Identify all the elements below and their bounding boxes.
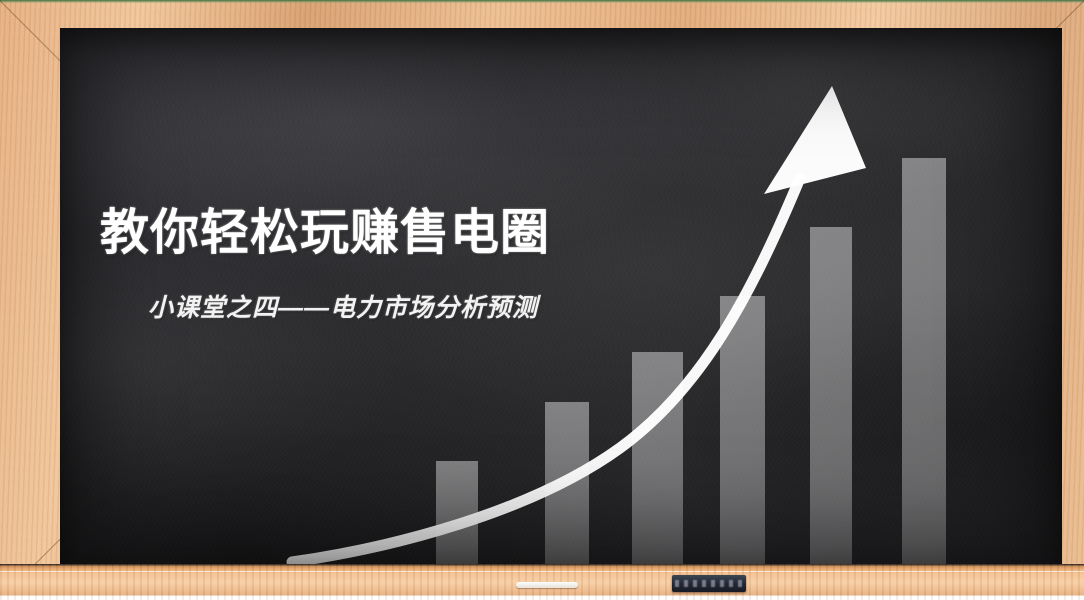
page-title: 教你轻松玩赚售电圈 (100, 193, 550, 264)
blackboard-eraser-icon (672, 575, 746, 592)
page-subtitle: 小课堂之四——电力市场分析预测 (148, 288, 538, 324)
chalk-stick-icon (516, 582, 578, 588)
slide-canvas: 教你轻松玩赚售电圈 小课堂之四——电力市场分析预测 (0, 0, 1084, 600)
frame-top-highlight (0, 0, 1084, 3)
